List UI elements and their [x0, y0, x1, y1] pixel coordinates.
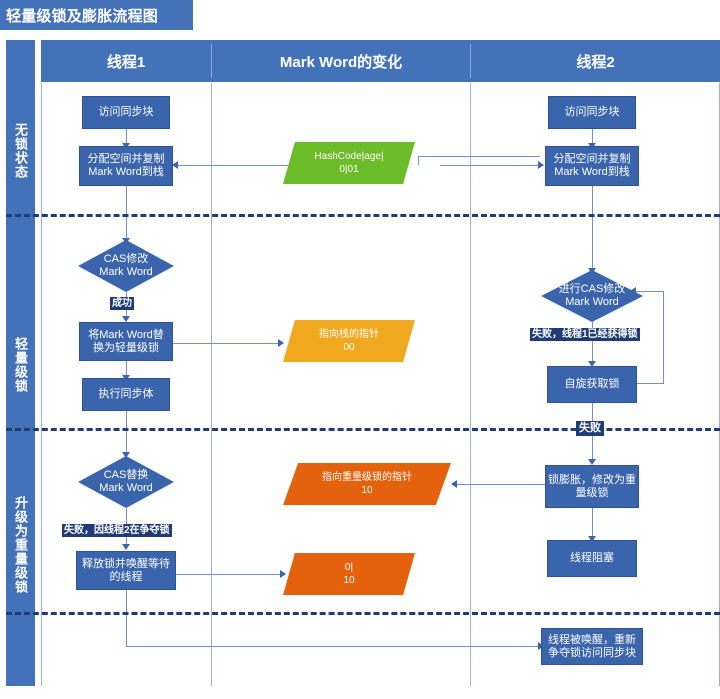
edge-spin-loop-out	[636, 383, 664, 384]
lane-header-markword: Mark Word的变化	[212, 40, 470, 82]
edge-label-t2-cas-fail: 失败，线程1已经获得锁	[530, 328, 640, 341]
edge-hashcode-jog	[418, 156, 419, 165]
node-markword-zero-ten[interactable]: 0| 10	[283, 553, 415, 595]
node-t2-access-sync-block[interactable]: 访问同步块	[548, 96, 636, 129]
edge-t2-alloc-cas	[592, 186, 593, 270]
edge-hashcode-to-t1-alloc	[176, 165, 288, 166]
stage-divider-3	[6, 612, 720, 615]
stage-divider-1	[6, 214, 720, 217]
lane-header-thread1: 线程1	[41, 40, 211, 82]
node-t1-replace-lightweight-lock[interactable]: 将Mark Word替 换为轻量级锁	[79, 322, 173, 361]
stage-divider-2	[6, 428, 720, 431]
stage-label-unlocked: 无锁状态	[6, 86, 35, 216]
edge-t1-exec-cas2	[126, 411, 127, 455]
edge-spin-loop-up	[663, 291, 664, 383]
lane-header-thread2: 线程2	[471, 40, 720, 82]
edge-t1-replace-to-stackptr	[172, 343, 280, 344]
node-t2-thread-wakeup-recontend[interactable]: 线程被唤醒，重新 争夺锁访问同步块	[541, 628, 643, 665]
divider-label-fail: 失败	[576, 421, 604, 436]
edge-bottom-rail	[126, 646, 540, 647]
lane-header-row: 线程1 Mark Word的变化 线程2	[41, 40, 720, 82]
node-markword-heavy-pointer[interactable]: 指向重量级锁的指针 10	[283, 463, 451, 505]
node-t2-spin-acquire-lock[interactable]: 自旋获取锁	[547, 366, 637, 403]
edge-inflate-to-heavyptr	[455, 484, 547, 485]
diagram-title-bar: 轻量级锁及膨胀流程图	[0, 0, 193, 30]
node-t1-exec-sync-body[interactable]: 执行同步体	[82, 378, 170, 411]
edge-t2-alloc-to-hashcode	[418, 156, 540, 157]
node-t1-cas-swap-markword[interactable]: CAS替换 Mark Word	[78, 456, 174, 508]
node-t2-cas-modify-markword[interactable]: 进行CAS修改 Mark Word	[541, 270, 643, 322]
node-t1-access-sync-block[interactable]: 访问同步块	[82, 96, 170, 129]
node-t1-cas-modify-markword[interactable]: CAS修改 Mark Word	[78, 240, 174, 292]
edge-label-cas2-fail: 失败，因线程2在争夺锁	[62, 524, 172, 537]
lane-divider-2	[470, 83, 471, 686]
stage-label-heavyweight: 升级为重量级锁	[6, 470, 35, 620]
node-t1-release-and-notify[interactable]: 释放锁并唤醒等待 的线程	[76, 551, 176, 590]
edge-label-cas-success: 成功	[110, 297, 134, 310]
edge-t1-alloc-cas	[126, 186, 127, 240]
arrowhead-down	[122, 544, 130, 550]
lane-divider-1	[211, 83, 212, 686]
node-markword-hashcode[interactable]: HashCode|age| 0|01	[283, 142, 415, 184]
node-t2-inflate-to-heavyweight[interactable]: 锁膨胀，修改为重 量级锁	[545, 465, 639, 508]
flowchart-canvas: 轻量级锁及膨胀流程图 无锁状态 轻量级锁 升级为重量级锁 线程1 Mark Wo…	[0, 0, 720, 699]
node-t2-alloc-copy-markword[interactable]: 分配空间并复制 Mark Word到栈	[545, 146, 639, 186]
edge-t1-release-to-zero	[172, 574, 282, 575]
page-title: 轻量级锁及膨胀流程图	[6, 5, 158, 26]
node-markword-stack-pointer[interactable]: 指向栈的指针 00	[283, 320, 415, 362]
arrowhead-left	[451, 480, 457, 488]
stage-label-lightweight: 轻量级锁	[6, 300, 35, 430]
arrowhead-right	[538, 161, 544, 169]
node-t1-alloc-copy-markword[interactable]: 分配空间并复制 Mark Word到栈	[79, 146, 173, 186]
edge-t1-release-down	[126, 590, 127, 646]
node-t2-thread-blocked[interactable]: 线程阻塞	[547, 540, 637, 577]
edge-into-t2-alloc	[440, 165, 540, 166]
